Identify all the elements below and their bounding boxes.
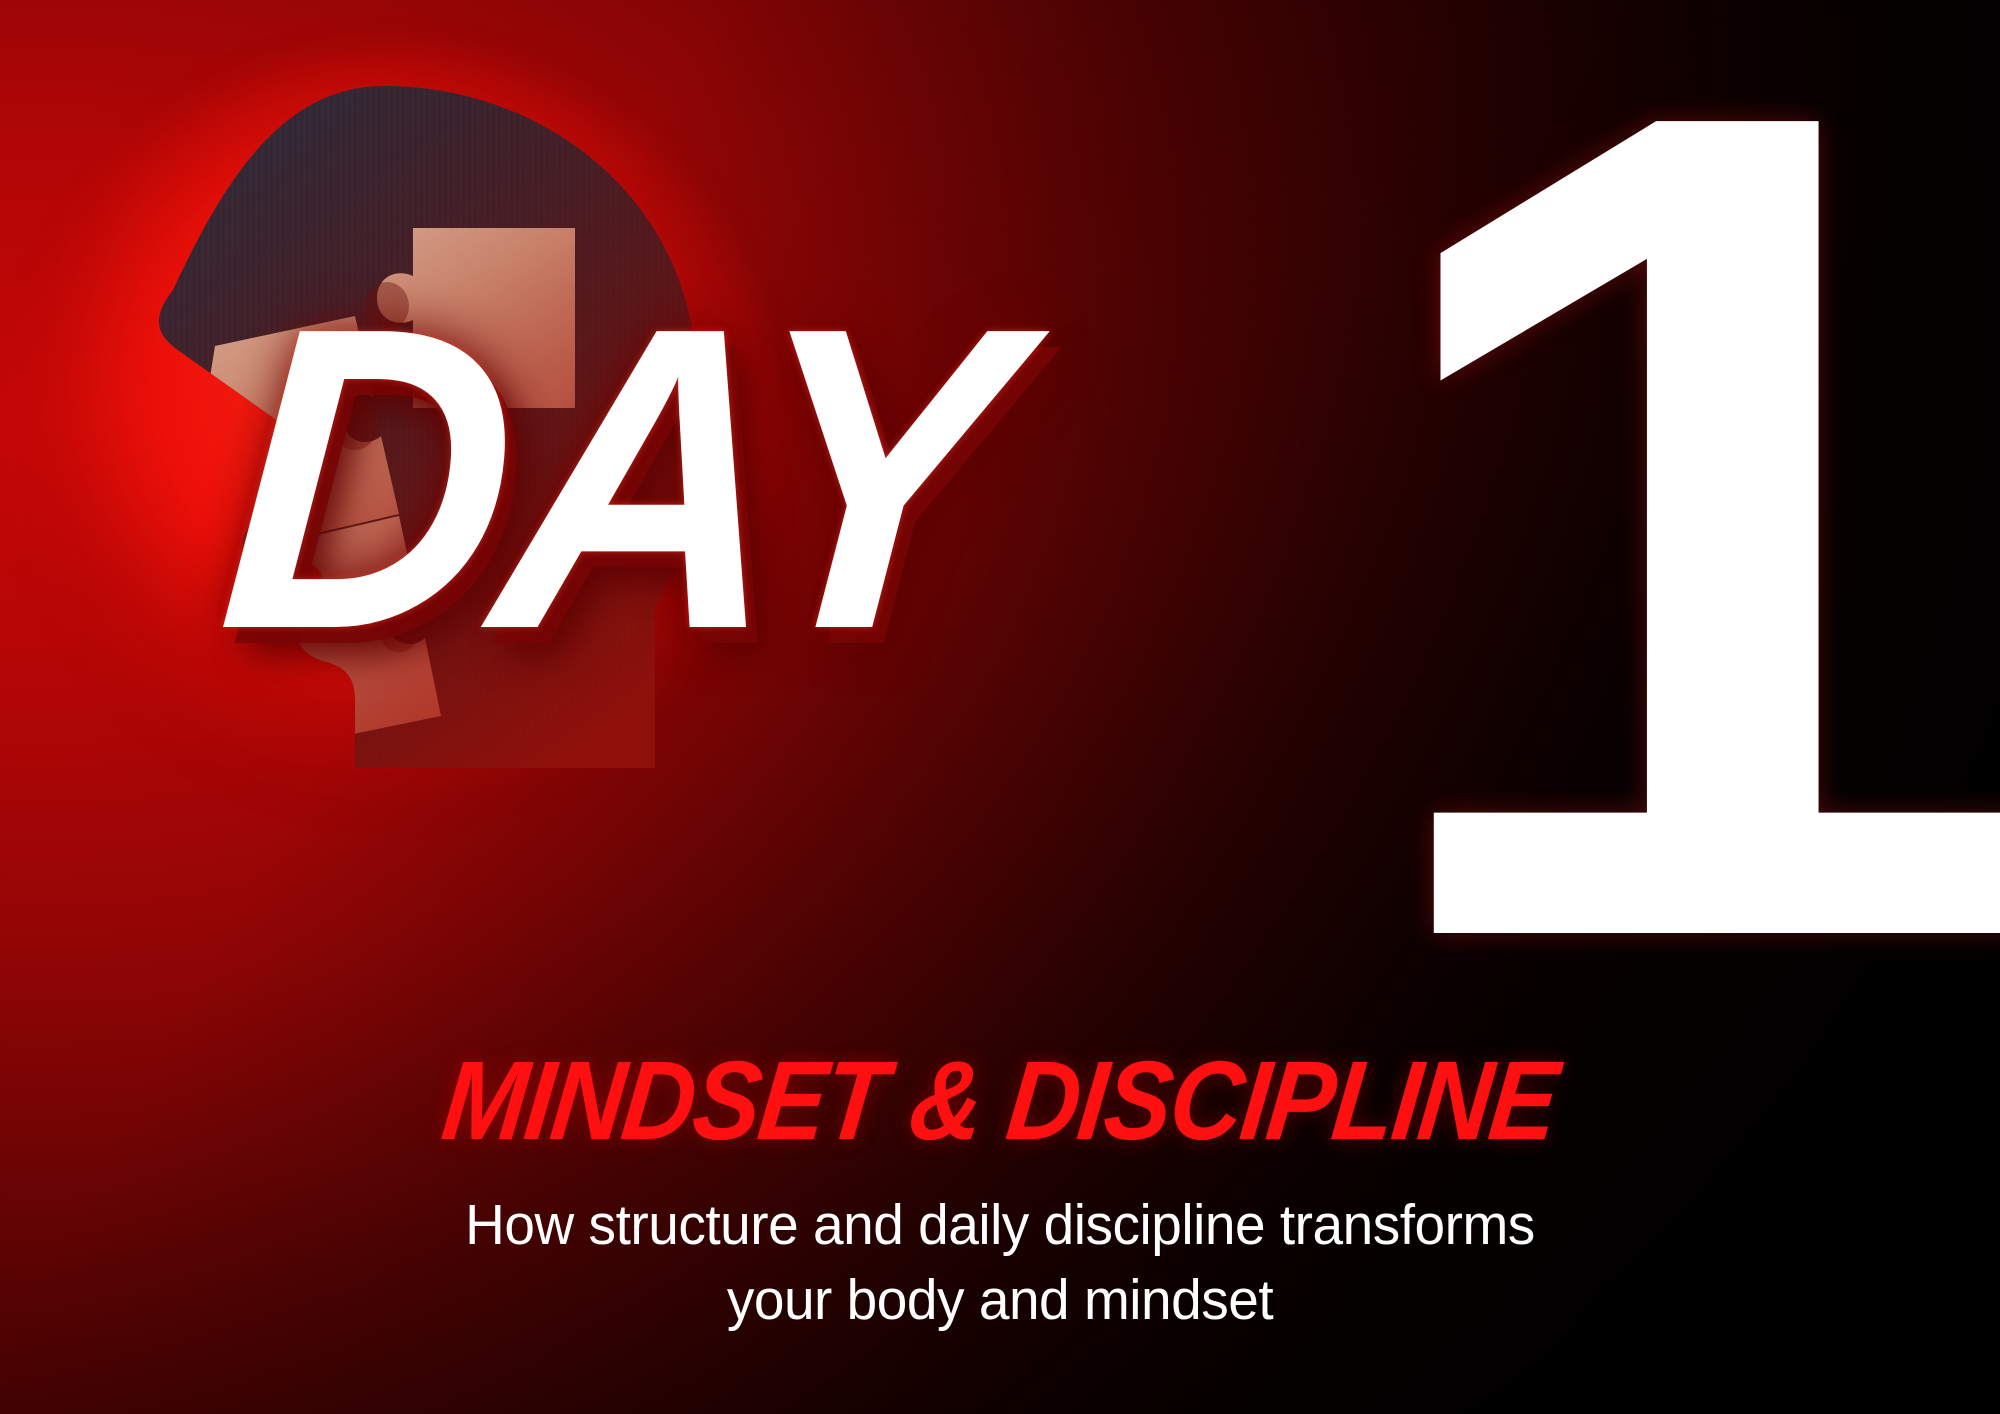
subtitle-line-1: How structure and daily discipline trans… <box>35 1188 1965 1263</box>
headline-text: MINDSET & DISCIPLINE <box>437 1036 1563 1165</box>
subtitle: How structure and daily discipline trans… <box>0 1188 2000 1338</box>
promo-poster: DAY DAY 1 MINDSET & DISCIPLINE How struc… <box>0 0 2000 1414</box>
day-number: 1 <box>1355 10 1800 1040</box>
subtitle-line-2: your body and mindset <box>35 1263 1965 1338</box>
day-wordmark: DAY DAY <box>228 214 1328 744</box>
day-wordmark-text: DAY <box>207 214 1262 744</box>
headline: MINDSET & DISCIPLINE <box>0 1036 2000 1165</box>
